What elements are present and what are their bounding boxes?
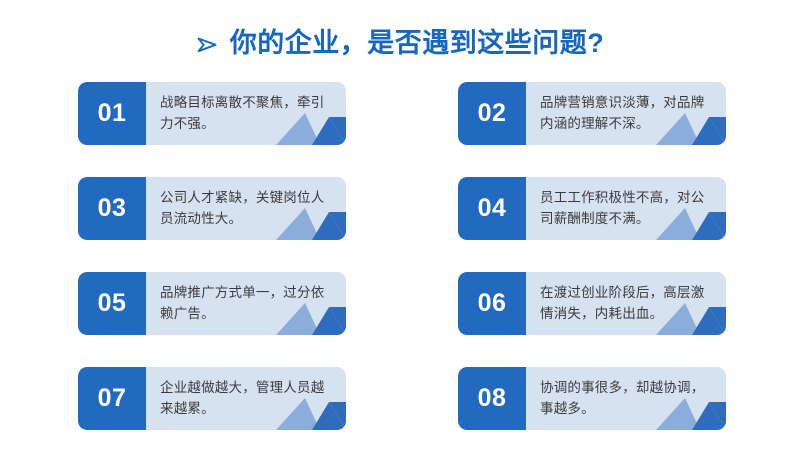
- card-body: 品牌推广方式单一，过分依赖广告。: [146, 272, 346, 335]
- card-text: 企业越做越大，管理人员越来越累。: [160, 378, 336, 420]
- card-text: 品牌营销意识淡薄，对品牌内涵的理解不深。: [540, 93, 716, 135]
- card-number-badge: 05: [78, 272, 146, 335]
- problem-card[interactable]: 03 公司人才紧缺，关键岗位人员流动性大。: [78, 177, 346, 240]
- card-text: 在渡过创业阶段后，高层激情消失，内耗出血。: [540, 283, 716, 325]
- card-number-badge: 08: [458, 367, 526, 430]
- card-text: 员工工作积极性不高，对公司薪酬制度不满。: [540, 188, 716, 230]
- card-number-badge: 02: [458, 82, 526, 145]
- page-title-text: 你的企业，是否遇到这些问题?: [230, 30, 605, 57]
- card-body: 在渡过创业阶段后，高层激情消失，内耗出血。: [526, 272, 726, 335]
- slide-root: 你的企业，是否遇到这些问题? 01 战略目标离散不聚焦，牵引力不强。 02 品牌…: [0, 0, 800, 450]
- problem-card[interactable]: 01 战略目标离散不聚焦，牵引力不强。: [78, 82, 346, 145]
- card-number-badge: 03: [78, 177, 146, 240]
- card-number-badge: 06: [458, 272, 526, 335]
- problem-card[interactable]: 07 企业越做越大，管理人员越来越累。: [78, 367, 346, 430]
- arrow-right-triangle-icon: [196, 34, 218, 56]
- card-text: 协调的事很多，却越协调，事越多。: [540, 378, 716, 420]
- page-title: 你的企业，是否遇到这些问题?: [0, 20, 800, 66]
- card-number-badge: 04: [458, 177, 526, 240]
- problem-card[interactable]: 02 品牌营销意识淡薄，对品牌内涵的理解不深。: [458, 82, 726, 145]
- problem-card[interactable]: 06 在渡过创业阶段后，高层激情消失，内耗出血。: [458, 272, 726, 335]
- card-body: 协调的事很多，却越协调，事越多。: [526, 367, 726, 430]
- card-text: 战略目标离散不聚焦，牵引力不强。: [160, 93, 336, 135]
- card-text: 品牌推广方式单一，过分依赖广告。: [160, 283, 336, 325]
- problem-card[interactable]: 08 协调的事很多，却越协调，事越多。: [458, 367, 726, 430]
- card-body: 公司人才紧缺，关键岗位人员流动性大。: [146, 177, 346, 240]
- card-body: 企业越做越大，管理人员越来越累。: [146, 367, 346, 430]
- card-body: 员工工作积极性不高，对公司薪酬制度不满。: [526, 177, 726, 240]
- problem-card[interactable]: 04 员工工作积极性不高，对公司薪酬制度不满。: [458, 177, 726, 240]
- problem-card[interactable]: 05 品牌推广方式单一，过分依赖广告。: [78, 272, 346, 335]
- card-body: 战略目标离散不聚焦，牵引力不强。: [146, 82, 346, 145]
- card-text: 公司人才紧缺，关键岗位人员流动性大。: [160, 188, 336, 230]
- problem-card-grid: 01 战略目标离散不聚焦，牵引力不强。 02 品牌营销意识淡薄，对品牌内涵的理解…: [78, 82, 726, 430]
- card-body: 品牌营销意识淡薄，对品牌内涵的理解不深。: [526, 82, 726, 145]
- card-number-badge: 01: [78, 82, 146, 145]
- card-number-badge: 07: [78, 367, 146, 430]
